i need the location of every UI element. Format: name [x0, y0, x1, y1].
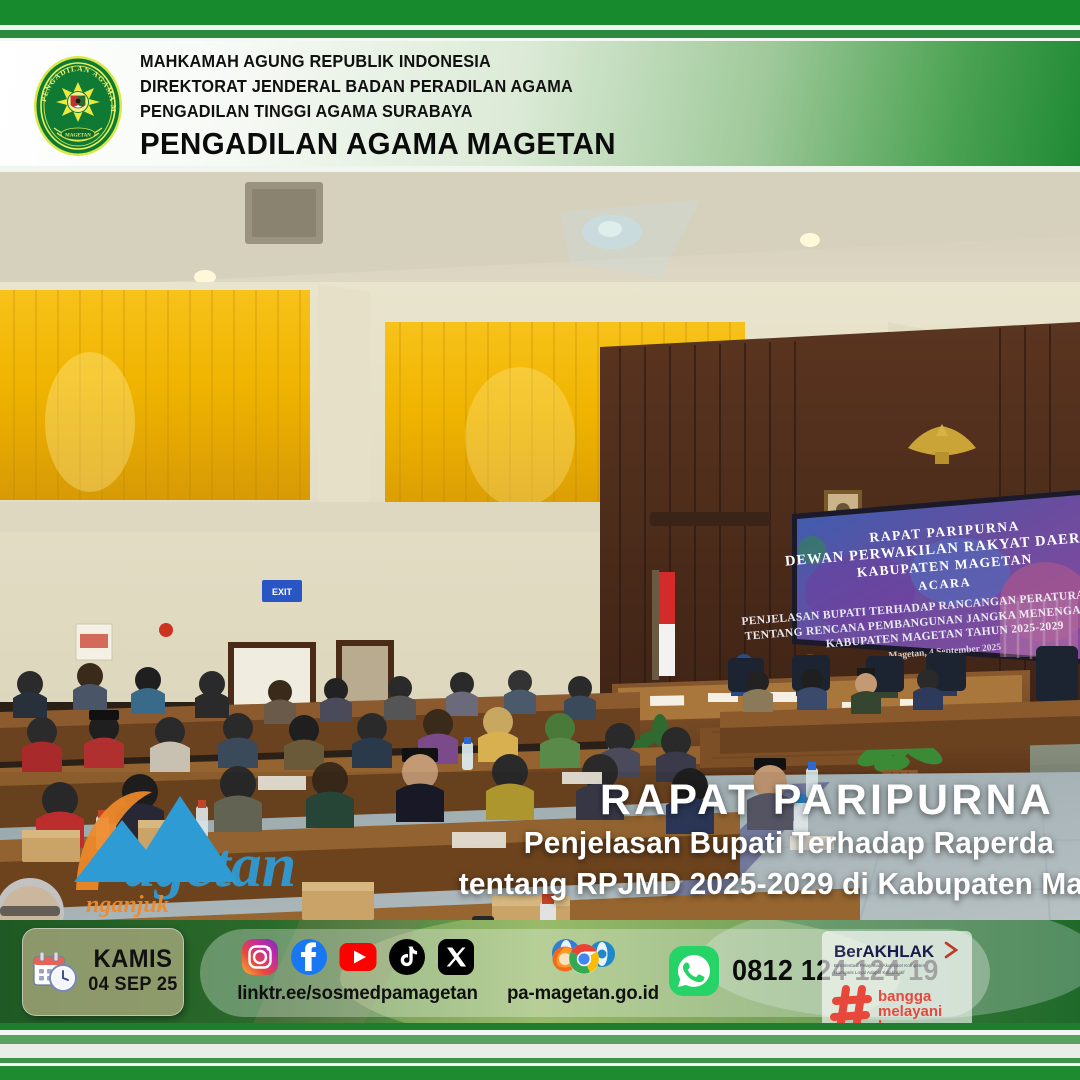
org-line-1: MAHKAMAH AGUNG REPUBLIK INDONESIA [140, 49, 606, 74]
org-line-3: PENGADILAN TINGGI AGAMA SURABAYA [140, 99, 606, 124]
pengadilan-agama-magetan-seal-icon: PENGADILAN AGAMA MAGETAN [32, 54, 124, 158]
calendar-clock-icon [31, 948, 79, 996]
date-day-label: KAMIS [86, 946, 181, 972]
berakhlak-bangga-melayani-bangsa-logo: BerAKHLAK Berorientasi Pelayanan Akuntab… [822, 931, 972, 1030]
org-line-4-main: PENGADILAN AGAMA MAGETAN [140, 126, 616, 163]
x-twitter-icon[interactable] [437, 938, 475, 976]
top-green-bar [0, 0, 1080, 25]
headline-subtitle-line-1: Penjelasan Bupati Terhadap Raperda [459, 823, 1054, 864]
org-line-2: DIREKTORAT JENDERAL BADAN PERADILAN AGAM… [140, 74, 606, 99]
headline-subtitle-line-2: tentang RPJMD 2025-2029 di Kabupaten Mag… [459, 864, 1054, 905]
contact-pill: linktr.ee/sosmedpamagetan [200, 929, 990, 1017]
facebook-icon[interactable] [290, 938, 328, 976]
bottom-green-bar-4 [0, 1066, 1080, 1080]
government-brand-group: BerAKHLAK Berorientasi Pelayanan Akuntab… [822, 931, 972, 1030]
bottom-green-bar-2 [0, 1035, 1080, 1044]
social-media-group: linktr.ee/sosmedpamagetan [230, 935, 485, 1005]
svg-text:MAGETAN: MAGETAN [65, 134, 91, 139]
headline-block: RAPAT PARIPURNA Penjelasan Bupati Terhad… [434, 778, 1054, 905]
svg-text:EXIT: EXIT [272, 587, 293, 597]
date-value-label: 04 SEP 25 [86, 972, 181, 999]
tiktok-icon[interactable] [388, 938, 426, 976]
poster-canvas: PENGADILAN AGAMA MAGETAN [0, 0, 1080, 1080]
headline-title: RAPAT PARIPURNA [434, 778, 1054, 823]
svg-text:Harmonis Loyal Adaptif Kolabor: Harmonis Loyal Adaptif Kolaboratif [834, 970, 905, 975]
website-label[interactable]: pa-magetan.go.id [493, 982, 674, 1005]
youtube-icon[interactable] [339, 938, 377, 976]
header-band: PENGADILAN AGAMA MAGETAN [0, 41, 1080, 171]
web-browsers-icon [544, 935, 622, 979]
svg-text:Berorientasi Pelayanan Akuntab: Berorientasi Pelayanan Akuntabel Kompete… [834, 963, 926, 968]
social-handle-label[interactable]: linktr.ee/sosmedpamagetan [236, 982, 478, 1005]
whatsapp-icon[interactable] [668, 945, 720, 997]
svg-text:BerAKHLAK: BerAKHLAK [834, 942, 935, 961]
footer-bar: KAMIS 04 SEP 25 [0, 920, 1080, 1030]
top-green-bar-secondary [0, 30, 1080, 38]
court-seal-logo: PENGADILAN AGAMA MAGETAN [22, 54, 134, 158]
bottom-green-bar-1 [0, 1023, 1080, 1030]
website-group: pa-magetan.go.id [488, 933, 678, 1005]
bottom-white-band [0, 1044, 1080, 1058]
instagram-icon[interactable] [241, 938, 279, 976]
header-titles: MAHKAMAH AGUNG REPUBLIK INDONESIA DIREKT… [140, 49, 641, 163]
date-badge: KAMIS 04 SEP 25 [22, 928, 184, 1016]
